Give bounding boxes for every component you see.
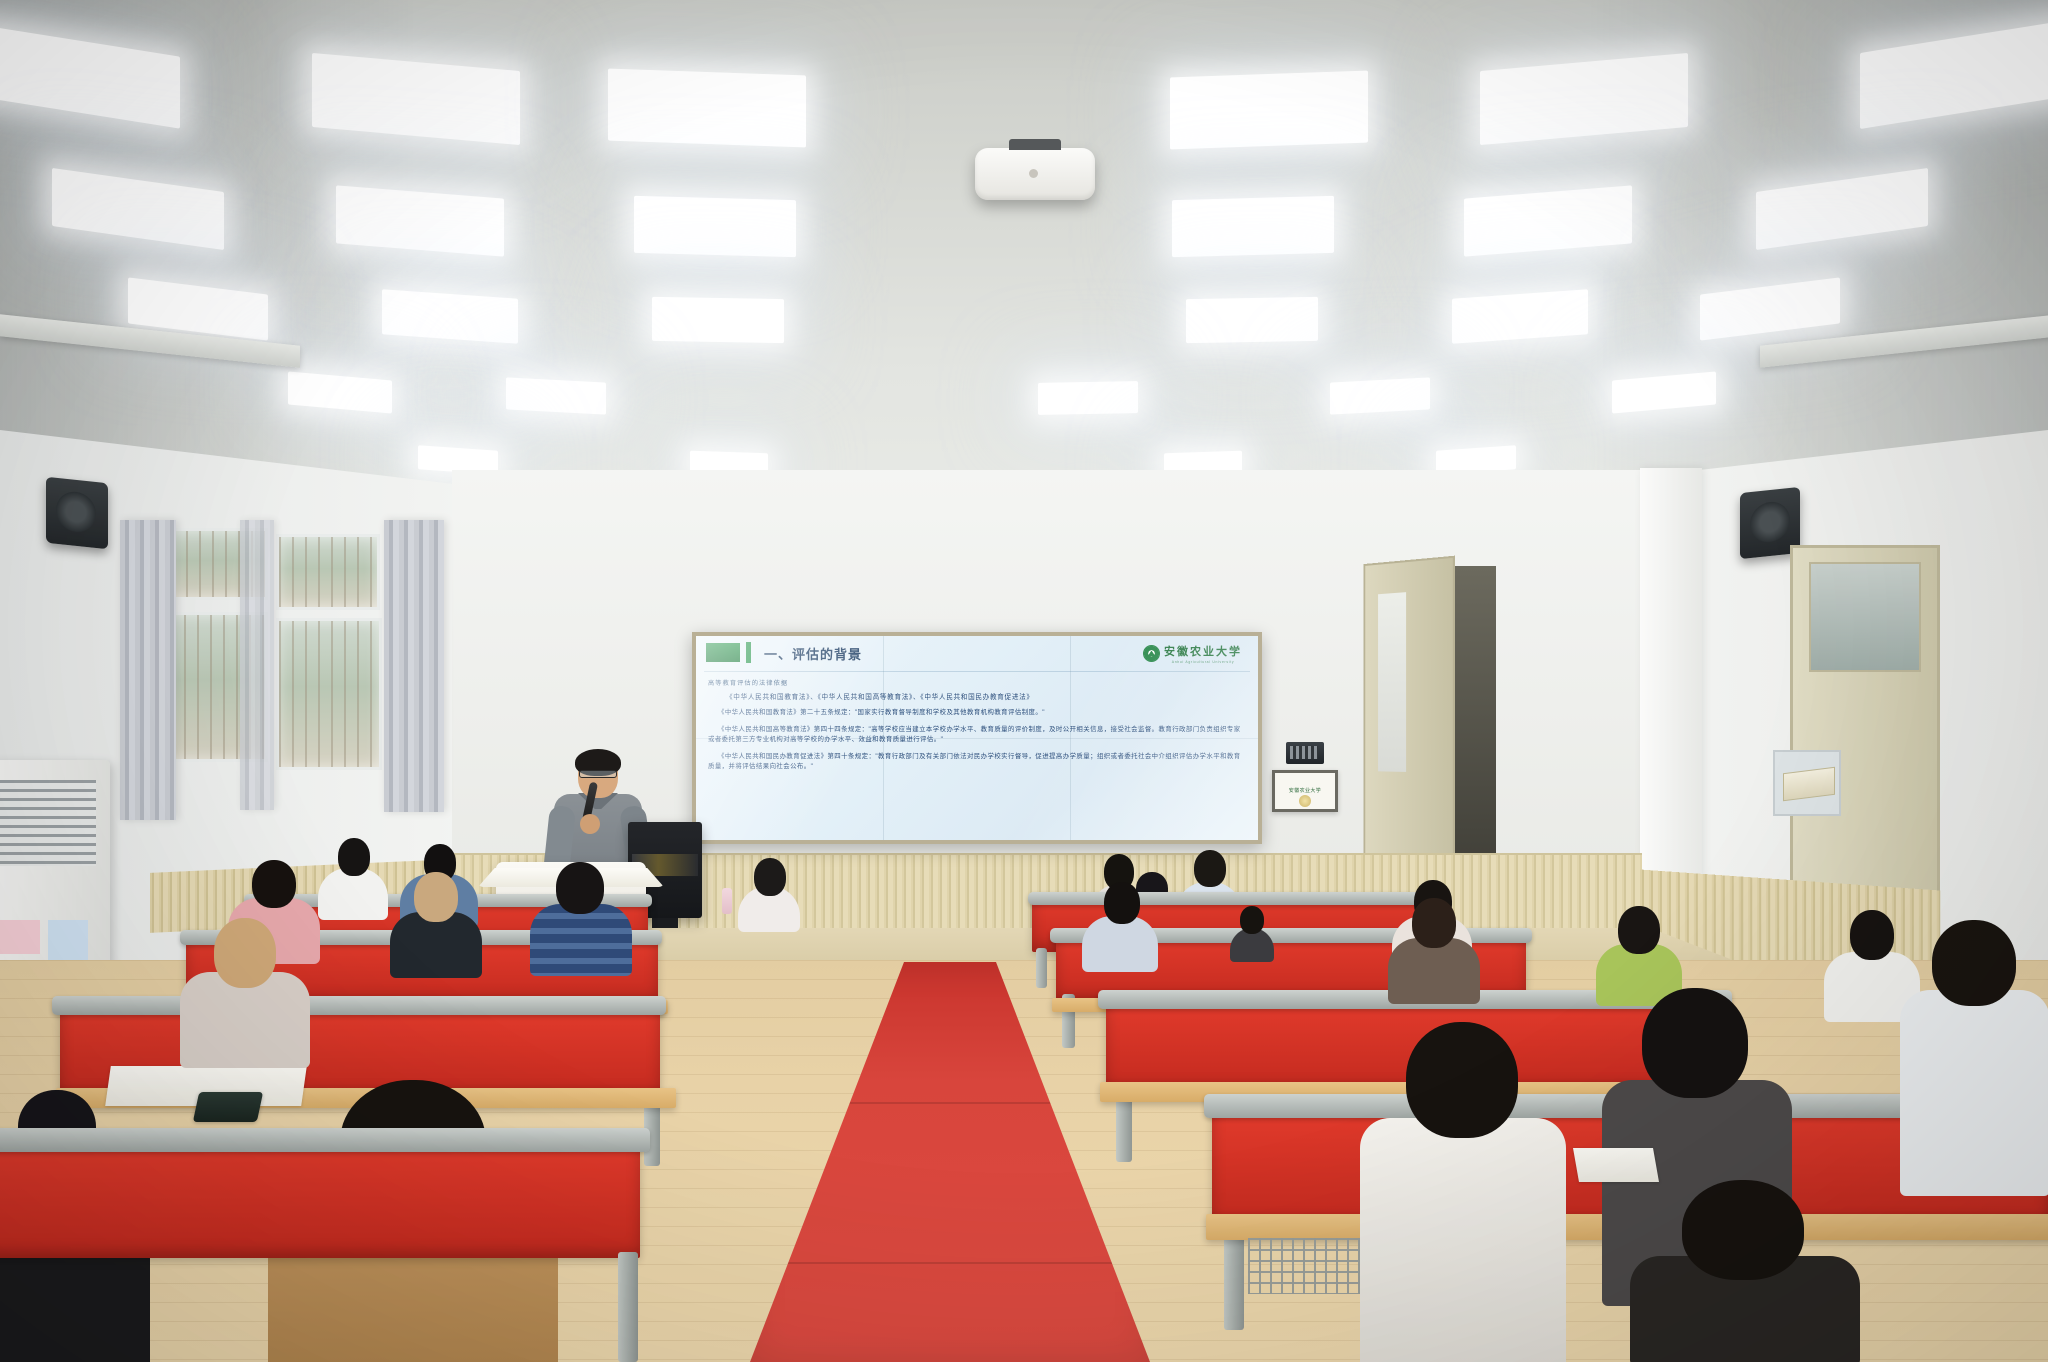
attendee-head [214, 918, 276, 988]
presenter-hand [580, 814, 600, 834]
ceiling-panel-light [634, 196, 796, 257]
attendee [318, 838, 388, 914]
slide-paragraph: 《中华人民共和国高等教育法》第四十四条规定："高等学校应当建立本学校办学水平、教… [708, 725, 1246, 746]
projection-screen: 一、评估的背景 安徽农业大学 Anhui Agricultural Univer… [696, 636, 1258, 840]
seat-backrail [52, 996, 666, 1015]
smartphone [193, 1092, 263, 1122]
window-pane [276, 618, 382, 770]
air-conditioner [0, 760, 110, 990]
attendee-head [1932, 920, 2016, 1006]
ceiling-panel-light [1186, 297, 1318, 343]
curtain [384, 520, 444, 812]
attendee-head [1240, 906, 1264, 934]
carpet-seam [750, 1262, 1150, 1264]
slide-paragraph: 《中华人民共和国教育法》第二十五条规定："国家实行教育督导制度和学校及其他教育机… [708, 708, 1246, 719]
attendee-head [1642, 988, 1748, 1098]
ceiling-panel-light [608, 69, 806, 148]
attendee-head [754, 858, 786, 896]
slide-body: 高等教育评估的法律依据 《中华人民共和国教育法》、《中华人民共和国高等教育法》、… [696, 676, 1258, 840]
attendee-head [414, 872, 458, 922]
university-logo-text: 安徽农业大学 Anhui Agricultural University [1164, 642, 1242, 664]
attendee-head [1412, 898, 1456, 948]
seat-backrail [0, 1128, 650, 1152]
seat-leg [618, 1252, 638, 1362]
ceiling-panel-light [382, 289, 518, 344]
door-vision-strip [1378, 592, 1406, 772]
attendee-body [1082, 916, 1158, 972]
attendee [180, 918, 310, 1056]
seat-leg [1036, 948, 1047, 988]
attendee [390, 872, 482, 970]
attendee-head [1618, 906, 1660, 954]
attendee [530, 862, 632, 968]
attendee-body [1360, 1118, 1566, 1362]
attendee-head [1682, 1180, 1804, 1280]
certificate-seal-icon [1299, 795, 1311, 807]
slide-title-bar: 一、评估的背景 安徽农业大学 Anhui Agricultural Univer… [696, 636, 1258, 672]
ceiling-panel-light [506, 377, 606, 414]
doorway-opening [1452, 566, 1496, 896]
projector [975, 148, 1095, 200]
wall-mounted-box [1773, 750, 1841, 816]
attendee [1630, 1180, 1860, 1362]
ceiling-panel-light [1038, 381, 1138, 415]
window-security-bars [279, 621, 379, 767]
attendee [1596, 906, 1682, 998]
ceiling-panel-light [652, 297, 784, 343]
slide-title-rule [704, 671, 1250, 672]
slide-accent-block [706, 643, 740, 662]
water-bottle [722, 888, 732, 914]
attendee-body [530, 904, 632, 976]
curtain [240, 520, 274, 810]
attendee [1082, 882, 1158, 966]
slide-law-list: 《中华人民共和国教育法》、《中华人民共和国高等教育法》、《中华人民共和国民办教育… [726, 691, 1246, 701]
university-name-en: Anhui Agricultural University [1164, 660, 1242, 664]
attendee-head [556, 862, 604, 914]
corner-pillar [1640, 468, 1702, 898]
certificate-text: 安徽农业大学 [1289, 788, 1321, 795]
window-band-left [140, 520, 470, 850]
curtain [120, 520, 176, 820]
ceiling-panel-light [1330, 377, 1430, 414]
air-conditioner-vent-icon [0, 780, 96, 866]
wall-speaker-left [46, 477, 108, 550]
attendee-head [1104, 882, 1140, 924]
university-emblem-icon [1143, 645, 1160, 662]
paper-handout [1573, 1148, 1659, 1182]
lecture-hall-photo: 安徽农业大学 一、评估的背景 安徽农业大学 Anhui Agricultural… [0, 0, 2048, 1362]
university-name-cn: 安徽农业大学 [1164, 646, 1242, 658]
air-conditioner-sticker [0, 920, 40, 954]
slide-title: 一、评估的背景 [764, 644, 862, 663]
window-security-bars [279, 537, 377, 607]
attendee-body [1900, 990, 2048, 1196]
university-logo: 安徽农业大学 Anhui Agricultural University [1143, 642, 1242, 664]
framed-certificate: 安徽农业大学 [1272, 770, 1338, 812]
window-pane [276, 534, 380, 610]
wall-control-panel[interactable] [1286, 742, 1324, 764]
attendee-head [1850, 910, 1894, 960]
attendee [1388, 898, 1480, 996]
projection-screen-frame: 一、评估的背景 安徽农业大学 Anhui Agricultural Univer… [692, 632, 1262, 844]
seat-row [0, 1138, 640, 1258]
ceiling-panel-light [1452, 289, 1588, 344]
projector-lens-icon [1029, 169, 1038, 178]
glasses-icon [579, 770, 617, 778]
attendee-head [252, 860, 296, 908]
slide-paragraph: 《中华人民共和国民办教育促进法》第四十条规定："教育行政部门及有关部门依法对民办… [708, 752, 1246, 773]
attendee [738, 858, 800, 926]
attendee [1360, 1022, 1566, 1362]
slide-section-heading: 高等教育评估的法律依据 [708, 678, 1246, 687]
attendee-head [338, 838, 370, 876]
attendee-head [1194, 850, 1226, 887]
attendee [1230, 906, 1274, 958]
door-glass-panel [1809, 562, 1921, 672]
attendee [1900, 920, 2048, 1190]
ceiling-panel-light [1170, 71, 1368, 150]
slide-accent-bar [746, 642, 751, 663]
monitor-stand [652, 918, 678, 928]
attendee-head [1406, 1022, 1518, 1138]
ceiling-panel-light [1172, 196, 1334, 257]
